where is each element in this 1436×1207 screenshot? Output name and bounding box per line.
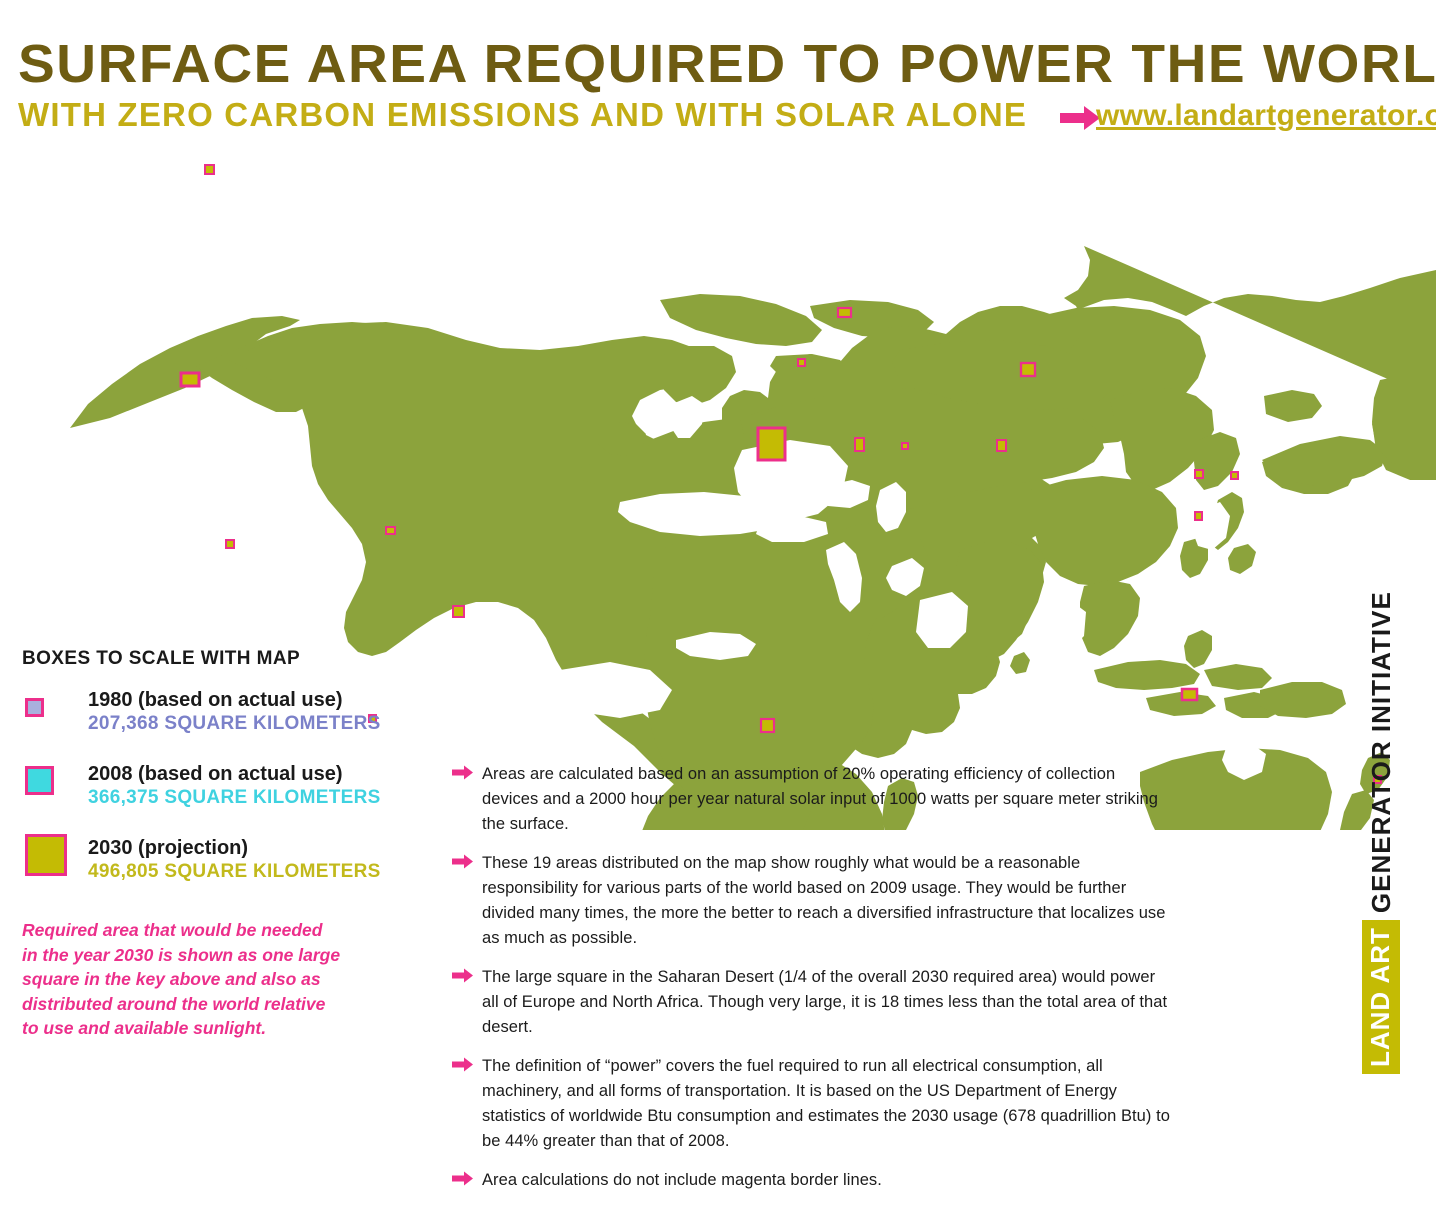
arrow-right-icon: [452, 854, 474, 869]
list-item-text: These 19 areas distributed on the map sh…: [482, 851, 1172, 951]
legend-year-2030: 2030 (projection): [88, 836, 381, 860]
header: SURFACE AREA REQUIRED TO POWER THE WORLD…: [0, 0, 1436, 145]
legend: BOXES TO SCALE WITH MAP 1980 (based on a…: [22, 648, 352, 908]
brand-highlight: LAND ART: [1362, 920, 1400, 1074]
infographic-root: SURFACE AREA REQUIRED TO POWER THE WORLD…: [0, 0, 1436, 1080]
solar-area-marker: [997, 440, 1006, 451]
solar-area-marker: [453, 606, 464, 617]
solar-area-marker: [205, 165, 214, 174]
legend-item-2030: 2030 (projection) 496,805 SQUARE KILOMET…: [22, 834, 352, 908]
list-item-text: The large square in the Saharan Desert (…: [482, 965, 1172, 1040]
brand-rest: GENERATOR INITIATIVE: [1366, 591, 1397, 920]
legend-area-1980: 207,368 SQUARE KILOMETERS: [88, 712, 381, 736]
list-item: Area calculations do not include magenta…: [452, 1168, 1172, 1193]
solar-area-marker: [1182, 689, 1197, 700]
page-title: SURFACE AREA REQUIRED TO POWER THE WORLD: [18, 36, 1436, 92]
solar-area-marker: [226, 540, 234, 548]
list-item: Areas are calculated based on an assumpt…: [452, 762, 1172, 837]
notes-list: Areas are calculated based on an assumpt…: [452, 762, 1172, 1207]
page-subtitle: WITH ZERO CARBON EMISSIONS AND WITH SOLA…: [18, 98, 1027, 132]
solar-area-marker: [855, 438, 864, 451]
legend-swatch-1980: [25, 698, 44, 717]
arrow-right-icon: [452, 1171, 474, 1186]
legend-year-2008: 2008 (based on actual use): [88, 762, 381, 786]
arrow-right-icon: [452, 968, 474, 983]
legend-title: BOXES TO SCALE WITH MAP: [22, 648, 352, 670]
list-item-text: Areas are calculated based on an assumpt…: [482, 762, 1172, 837]
list-item: The definition of “power” covers the fue…: [452, 1054, 1172, 1154]
solar-area-marker: [1231, 472, 1238, 479]
solar-area-marker: [761, 719, 774, 732]
legend-year-1980: 1980 (based on actual use): [88, 688, 381, 712]
solar-area-marker: [386, 527, 395, 534]
brand-inner: LAND ART GENERATOR INITIATIVE: [1362, 591, 1400, 1074]
solar-area-marker: [758, 428, 785, 460]
arrow-right-icon: [452, 765, 474, 780]
solar-area-marker: [1195, 470, 1203, 478]
legend-item-2008: 2008 (based on actual use) 366,375 SQUAR…: [22, 760, 352, 834]
legend-area-2008: 366,375 SQUARE KILOMETERS: [88, 786, 381, 810]
website-link[interactable]: www.landartgenerator.org: [1096, 99, 1436, 133]
brand-vertical: LAND ART GENERATOR INITIATIVE: [1400, 654, 1434, 1074]
legend-area-2030: 496,805 SQUARE KILOMETERS: [88, 860, 381, 884]
solar-area-marker: [902, 443, 908, 449]
legend-item-1980: 1980 (based on actual use) 207,368 SQUAR…: [22, 686, 352, 760]
solar-area-marker: [1021, 363, 1035, 376]
solar-area-marker: [838, 308, 851, 317]
arrow-right-icon: [452, 1057, 474, 1072]
list-item: The large square in the Saharan Desert (…: [452, 965, 1172, 1040]
solar-area-marker: [1195, 512, 1202, 520]
legend-swatch-2030: [25, 834, 67, 876]
solar-area-marker: [181, 373, 199, 386]
list-item: These 19 areas distributed on the map sh…: [452, 851, 1172, 951]
legend-swatch-2008: [25, 766, 54, 795]
list-item-text: Area calculations do not include magenta…: [482, 1168, 1172, 1193]
legend-note: Required area that would be needed in th…: [22, 918, 342, 1041]
list-item-text: The definition of “power” covers the fue…: [482, 1054, 1172, 1154]
solar-area-marker: [798, 359, 805, 366]
